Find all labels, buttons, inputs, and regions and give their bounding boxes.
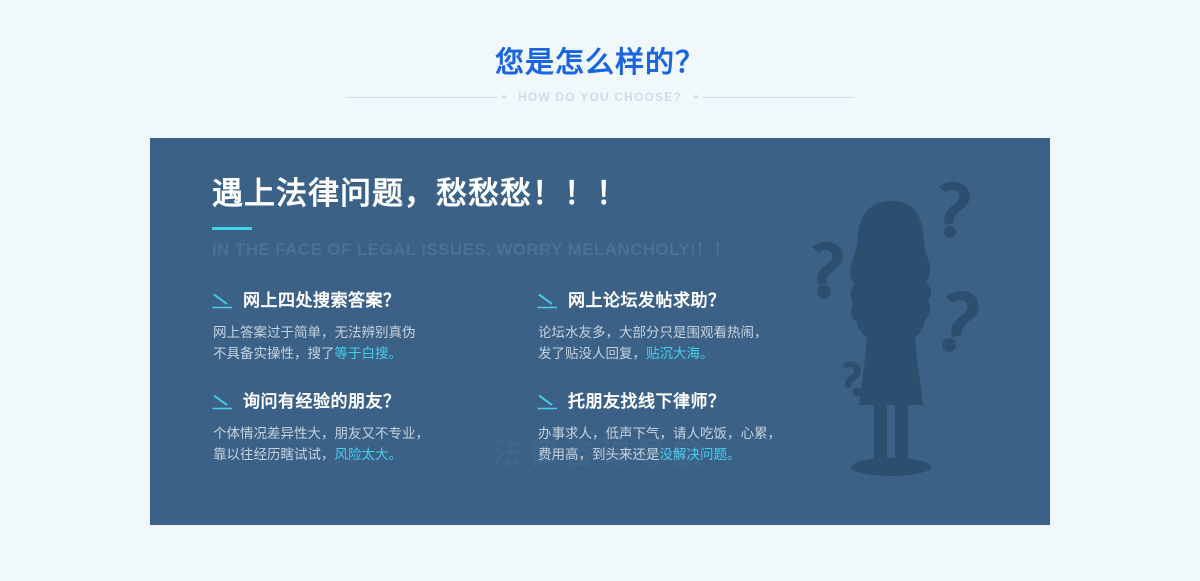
list-item-line2-prefix: 不具备实操性，搜了 [213, 346, 335, 361]
list-item-line1: 网上答案过于简单，无法辨别真伪 [213, 325, 416, 340]
list-item-line2-prefix: 靠以往经历瞎试试， [213, 447, 335, 462]
list-item-title: 网上论坛发帖求助？ [568, 291, 726, 311]
list-item-header: 托朋友找线下律师？ [537, 392, 862, 412]
panel-content: 遇上法律问题，愁愁愁！！！ IN THE FACE OF LEGAL ISSUE… [150, 138, 1050, 465]
list-item-body: 网上答案过于简单，无法辨别真伪 不具备实操性，搜了等于白搜。 [213, 322, 537, 364]
accent-bar [212, 227, 252, 230]
panel-subtitle: IN THE FACE OF LEGAL ISSUES, WORRY MELAN… [212, 239, 1050, 261]
list-item-line2-highlight: 等于白搜。 [335, 346, 403, 361]
page-subtitle: HOW DO YOU CHOOSE? [518, 90, 682, 104]
subtitle-row: HOW DO YOU CHOOSE? [0, 90, 1200, 104]
list-item: 托朋友找线下律师？ 办事求人，低声下气，请人吃饭，心累， 费用高，到头来还是没解… [537, 392, 862, 465]
slash-underline-icon [212, 293, 234, 309]
decorative-line-left [346, 95, 506, 99]
list-item: 询问有经验的朋友？ 个体情况差异性大，朋友又不专业， 靠以往经历瞎试试，风险太大… [212, 392, 537, 465]
list-item-title: 网上四处搜索答案？ [243, 291, 401, 311]
decorative-line-right [694, 95, 854, 99]
list-item-body: 个体情况差异性大，朋友又不专业， 靠以往经历瞎试试，风险太大。 [213, 423, 537, 465]
list-item-body: 论坛水友多，大部分只是围观看热闹， 发了贴没人回复，贴沉大海。 [538, 322, 862, 364]
list-item-header: 网上论坛发帖求助？ [537, 291, 862, 311]
feature-panel: 法律咨询导航 遇上法律 [150, 138, 1050, 525]
slash-underline-icon [537, 293, 559, 309]
slash-underline-icon [537, 394, 559, 410]
list-item-line2-prefix: 发了贴没人回复， [538, 346, 646, 361]
slash-underline-icon [212, 394, 234, 410]
list-item-body: 办事求人，低声下气，请人吃饭，心累， 费用高，到头来还是没解决问题。 [538, 423, 862, 465]
list-item-line1: 论坛水友多，大部分只是围观看热闹， [538, 325, 768, 340]
list-item-title: 托朋友找线下律师？ [568, 392, 726, 412]
pain-point-list: 网上四处搜索答案？ 网上答案过于简单，无法辨别真伪 不具备实操性，搜了等于白搜。… [212, 291, 912, 465]
list-item-header: 询问有经验的朋友？ [212, 392, 537, 412]
list-item: 网上四处搜索答案？ 网上答案过于简单，无法辨别真伪 不具备实操性，搜了等于白搜。 [212, 291, 537, 364]
list-item-line1: 办事求人，低声下气，请人吃饭，心累， [538, 426, 781, 441]
list-item-line1: 个体情况差异性大，朋友又不专业， [213, 426, 429, 441]
page-title: 您是怎么样的？ [0, 44, 1200, 82]
panel-title: 遇上法律问题，愁愁愁！！！ [212, 174, 1050, 214]
list-item-line2-highlight: 风险太大。 [335, 447, 403, 462]
list-item-line2-prefix: 费用高，到头来还是 [538, 447, 660, 462]
list-item-line2-highlight: 没解决问题。 [660, 447, 741, 462]
section-header: 您是怎么样的？ HOW DO YOU CHOOSE? [0, 0, 1200, 104]
list-item-line2-highlight: 贴沉大海。 [646, 346, 714, 361]
list-item-header: 网上四处搜索答案？ [212, 291, 537, 311]
list-item: 网上论坛发帖求助？ 论坛水友多，大部分只是围观看热闹， 发了贴没人回复，贴沉大海… [537, 291, 862, 364]
list-item-title: 询问有经验的朋友？ [243, 392, 401, 412]
